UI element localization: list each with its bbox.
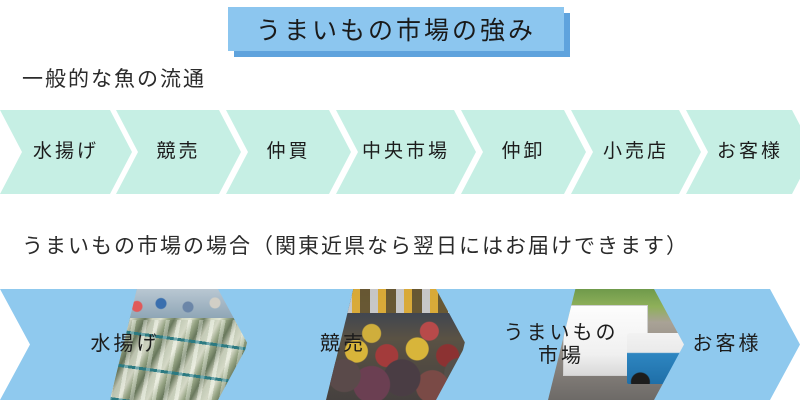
flow-step-general-5: 仲卸 bbox=[461, 110, 586, 194]
section-heading-umaimono-case: うまいもの市場の場合（関東近県なら翌日にはお届けできます） bbox=[22, 230, 689, 260]
flow-step-label: 仲卸 bbox=[501, 141, 545, 163]
flow-step-label: お客様 bbox=[693, 333, 762, 356]
flow-step-label: 中央市場 bbox=[362, 141, 450, 163]
flow-step-label: 小売店 bbox=[603, 141, 669, 163]
flow-step-label: うまいもの 市場 bbox=[504, 322, 619, 368]
flow-step-general-7: お客様 bbox=[686, 110, 800, 194]
infographic-canvas: うまいもの市場の強み 一般的な魚の流通 水揚げ 競売 仲買 中央市場 仲卸 小売… bbox=[0, 0, 800, 400]
section-heading-general-distribution: 一般的な魚の流通 bbox=[22, 63, 206, 93]
title-banner: うまいもの市場の強み bbox=[228, 7, 564, 51]
flow-step-general-3: 仲買 bbox=[226, 110, 351, 194]
flow-step-label: 仲買 bbox=[266, 141, 310, 163]
title-banner-box: うまいもの市場の強み bbox=[228, 7, 564, 51]
page-title: うまいもの市場の強み bbox=[256, 11, 536, 47]
flow-step-label: 水揚げ bbox=[33, 141, 99, 163]
flow-step-umaimono-2: 競売 bbox=[218, 289, 468, 400]
flow-step-umaimono-1: 水揚げ bbox=[0, 289, 250, 400]
flow-step-label: 競売 bbox=[320, 333, 366, 356]
flow-step-general-2: 競売 bbox=[116, 110, 241, 194]
flow-row-general-distribution: 水揚げ 競売 仲買 中央市場 仲卸 小売店 お客様 bbox=[0, 110, 800, 194]
flow-step-umaimono-3: うまいもの 市場 bbox=[436, 289, 686, 400]
flow-step-label: お客様 bbox=[717, 141, 783, 163]
flow-step-general-6: 小売店 bbox=[571, 110, 701, 194]
flow-step-label: 水揚げ bbox=[91, 333, 160, 356]
flow-step-general-4: 中央市場 bbox=[336, 110, 476, 194]
flow-row-umaimono-case: 水揚げ 競売 うまいもの 市場 お客様 bbox=[0, 289, 800, 400]
flow-step-general-1: 水揚げ bbox=[0, 110, 132, 194]
flow-step-label: 競売 bbox=[156, 141, 200, 163]
